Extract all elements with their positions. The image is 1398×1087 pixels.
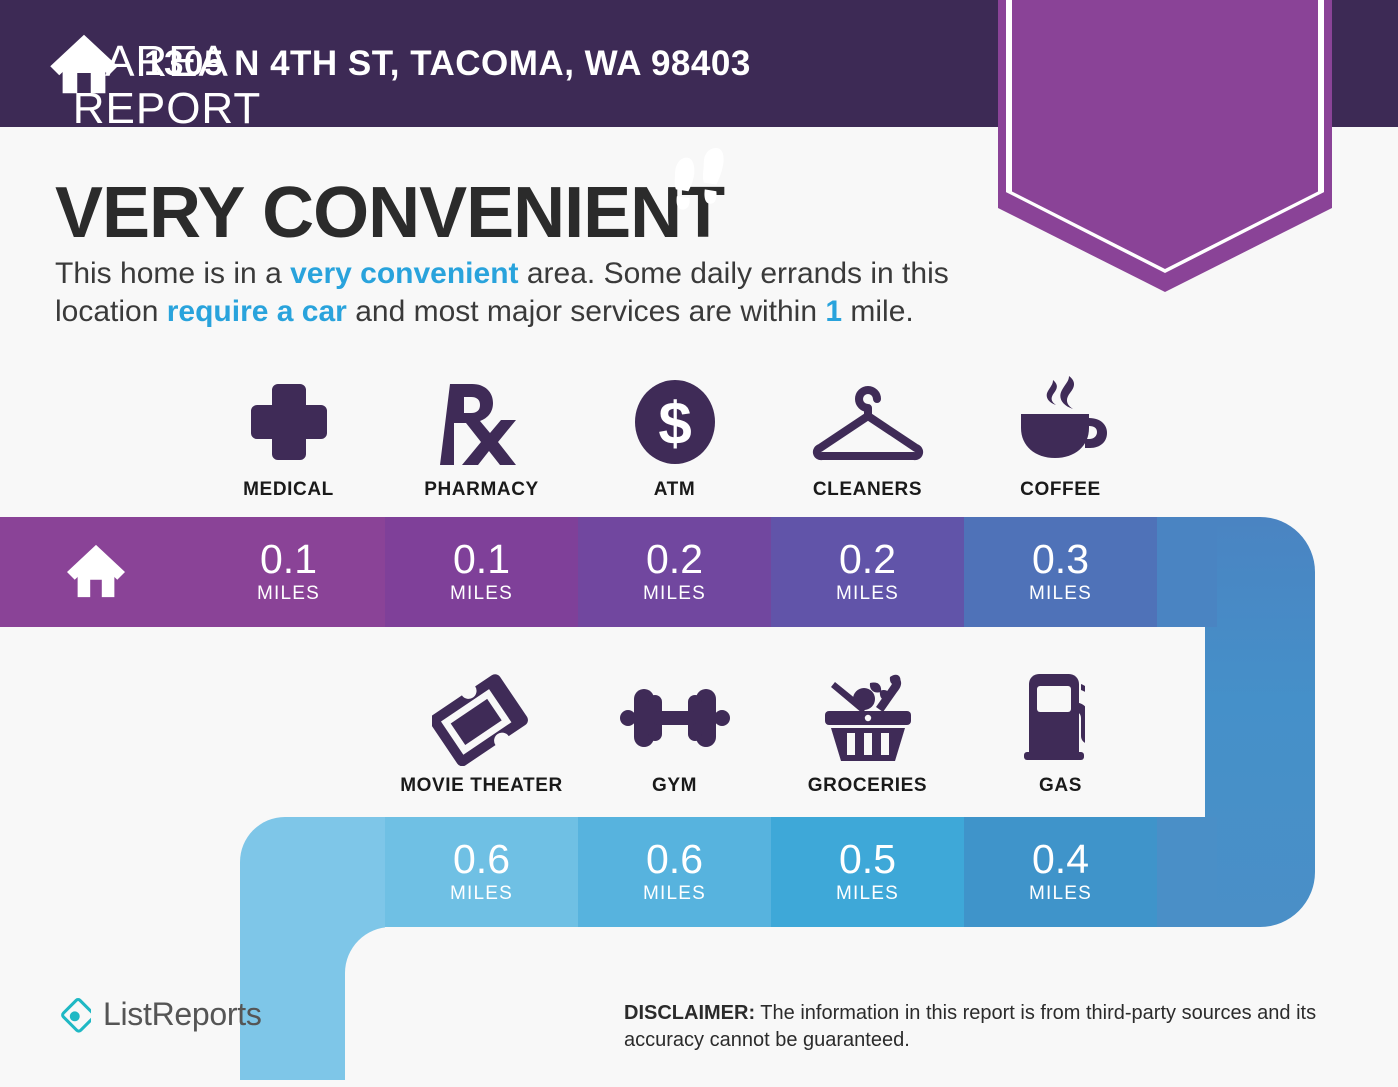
bar-segment-movie-theater: 0.6 MILES	[385, 817, 578, 927]
amenity-cleaners: CLEANERS	[771, 376, 964, 501]
amenity-icon-row-top: MEDICAL PHARMACY $ ATM CLEANERS	[192, 376, 1157, 501]
distance-unit: MILES	[1029, 883, 1092, 905]
distance-unit: MILES	[836, 883, 899, 905]
amenity-medical: MEDICAL	[192, 376, 385, 501]
distance-value: 0.2	[839, 539, 896, 580]
distance-value: 0.2	[646, 539, 703, 580]
desc-text-4: mile.	[842, 295, 914, 328]
bar-segment-groceries: 0.5 MILES	[771, 817, 964, 927]
distance-unit: MILES	[836, 583, 899, 605]
coffee-cup-icon	[1013, 376, 1109, 468]
area-report-badge	[998, 0, 1332, 292]
listreports-logo[interactable]: ListReports	[55, 996, 262, 1033]
bar-segment-atm: 0.2 MILES	[578, 517, 771, 627]
desc-highlight-distance: 1	[825, 295, 842, 328]
logo-text: ListReports	[103, 996, 262, 1033]
bar-segment-gym: 0.6 MILES	[578, 817, 771, 927]
footprints-icon	[666, 148, 732, 223]
amenity-label: ATM	[654, 479, 696, 501]
home-icon	[65, 543, 127, 601]
dollar-circle-icon: $	[629, 376, 721, 468]
distance-value: 0.1	[453, 539, 510, 580]
hanger-icon	[810, 376, 926, 468]
desc-highlight-transport: require a car	[167, 295, 347, 328]
distance-unit: MILES	[643, 583, 706, 605]
amenity-atm: $ ATM	[578, 376, 771, 501]
bar-segment-pharmacy: 0.1 MILES	[385, 517, 578, 627]
distance-value: 0.1	[260, 539, 317, 580]
distance-unit: MILES	[450, 883, 513, 905]
bar-segment-home	[0, 517, 192, 627]
svg-text:$: $	[658, 390, 691, 457]
distance-value: 0.6	[646, 839, 703, 880]
medical-cross-icon	[243, 376, 335, 468]
distance-value: 0.5	[839, 839, 896, 880]
listreports-house-icon	[55, 997, 91, 1033]
bar-lead-right	[1157, 517, 1217, 627]
distance-value: 0.6	[453, 839, 510, 880]
bar-segment-coffee: 0.3 MILES	[964, 517, 1157, 627]
bar-notch-right	[1085, 627, 1205, 817]
desc-text-3: and most major services are within	[347, 295, 826, 328]
distance-unit: MILES	[643, 883, 706, 905]
disclaimer-label: DISCLAIMER:	[624, 1002, 755, 1024]
distance-value: 0.3	[1032, 539, 1089, 580]
page-description: This home is in a very convenient area. …	[55, 255, 985, 331]
bar-segment-medical: 0.1 MILES	[192, 517, 385, 627]
distance-value: 0.4	[1032, 839, 1089, 880]
amenity-coffee: COFFEE	[964, 376, 1157, 501]
desc-text-1: This home is in a	[55, 257, 290, 290]
amenity-label: COFFEE	[1020, 479, 1101, 501]
badge-line-1: AREA	[0, 38, 334, 85]
distance-unit: MILES	[1029, 583, 1092, 605]
amenity-label: PHARMACY	[424, 479, 539, 501]
amenity-label: MEDICAL	[243, 479, 334, 501]
distance-unit: MILES	[450, 583, 513, 605]
rx-icon	[436, 376, 528, 468]
bar-bend-right	[1205, 517, 1315, 927]
bar-segment-cleaners: 0.2 MILES	[771, 517, 964, 627]
badge-line-2: REPORT	[0, 85, 334, 132]
disclaimer: DISCLAIMER: The information in this repo…	[624, 1000, 1354, 1054]
desc-highlight-convenience: very convenient	[290, 257, 518, 290]
amenity-label: CLEANERS	[813, 479, 922, 501]
bar-segment-gas: 0.4 MILES	[964, 817, 1157, 927]
bar-lead-right-row2	[1157, 817, 1217, 927]
page-title: VERY CONVENIENT	[55, 172, 724, 254]
bar-notch-left	[345, 927, 465, 1087]
amenity-pharmacy: PHARMACY	[385, 376, 578, 501]
badge-inner	[1012, 0, 1318, 269]
distance-unit: MILES	[257, 583, 320, 605]
badge-title: AREA REPORT	[0, 38, 334, 132]
